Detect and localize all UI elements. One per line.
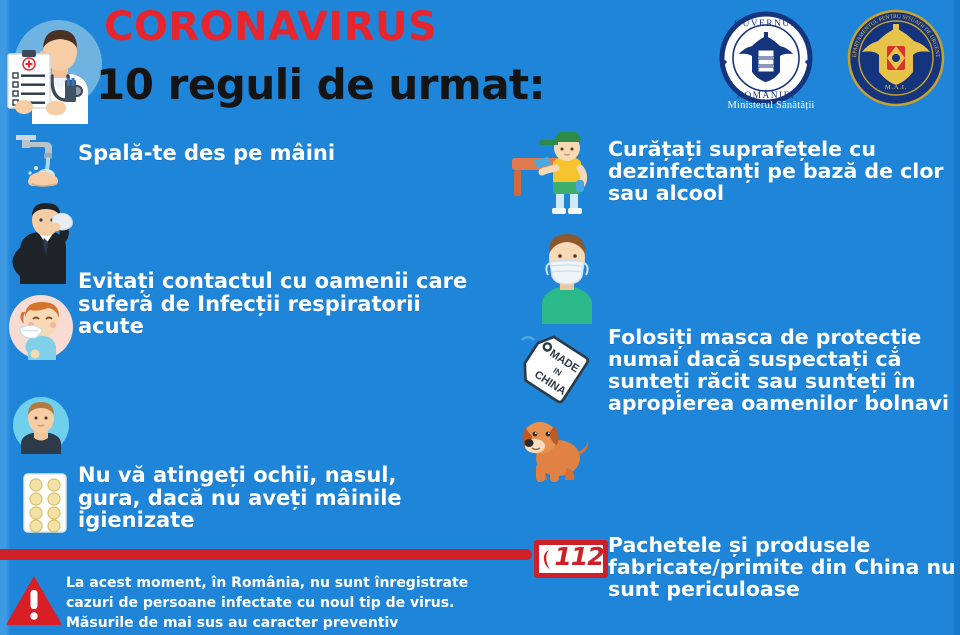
man-coughing-icon xyxy=(8,200,76,284)
doctor-illustration-icon xyxy=(2,12,106,124)
ministry-label: Ministerul Sănătății xyxy=(706,100,836,111)
warning-triangle-icon xyxy=(6,574,62,626)
emergency-112-badge-icon: 112 xyxy=(534,540,608,578)
pill-blister-pack-icon xyxy=(22,472,68,534)
person-wearing-mask-icon xyxy=(536,226,598,324)
guvernul-romaniei-seal: GUVERNUL ROMÂNIEI xyxy=(722,14,810,102)
made-in-china-tag-icon: MADE IN CHINA xyxy=(516,332,594,412)
rule-text-1: Spală-te des pe mâini xyxy=(78,142,335,165)
rule-item-1: Spală-te des pe mâini xyxy=(0,130,500,192)
person-avatar-icon xyxy=(12,396,70,454)
svg-text:GUVERNUL: GUVERNUL xyxy=(734,19,797,29)
child-sneezing-tissue-icon xyxy=(8,294,74,360)
svg-text:M.A.I.: M.A.I. xyxy=(885,84,907,91)
rule-text-6: Curățați suprafețele cu dezinfectanți pe… xyxy=(608,138,944,204)
dog-puppy-icon xyxy=(518,412,592,484)
rule-item-7: Folosiți masca de protecție numai dacă s… xyxy=(508,224,960,332)
red-divider-bar xyxy=(0,549,532,560)
rule-item-9: Animalele de companie nu răspândesc aces… xyxy=(508,412,960,504)
badge-number: 112 xyxy=(547,542,611,571)
rule-item-6: Curățați suprafețele cu dezinfectanți pe… xyxy=(508,130,960,220)
rule-item-8: MADE IN CHINA Pachetele și produsele fab… xyxy=(508,328,960,424)
page-title: CORONAVIRUS xyxy=(104,4,437,50)
coronavirus-infographic-poster: CORONAVIRUS 10 reguli de urmat: GUVERNUL… xyxy=(0,0,960,635)
poster-header: CORONAVIRUS 10 reguli de urmat: GUVERNUL… xyxy=(0,0,960,126)
rule-item-2: Evitați contactul cu oamenii care suferă… xyxy=(0,196,500,294)
footer-warning-text: La acest moment, în România, nu sunt înr… xyxy=(66,574,526,634)
page-subtitle: 10 reguli de urmat: xyxy=(96,60,545,109)
rule-item-3: Nu vă atingeți ochii, nasul, gura, dacă … xyxy=(0,292,500,390)
child-cleaning-surface-icon xyxy=(512,132,604,216)
rule-item-4: Acoperiți-vă nasul și gura când strănuta… xyxy=(0,390,500,468)
rule-item-5: Nu luați medicamente antivirale sau anti… xyxy=(0,468,500,558)
faucet-handwash-icon xyxy=(10,132,72,190)
